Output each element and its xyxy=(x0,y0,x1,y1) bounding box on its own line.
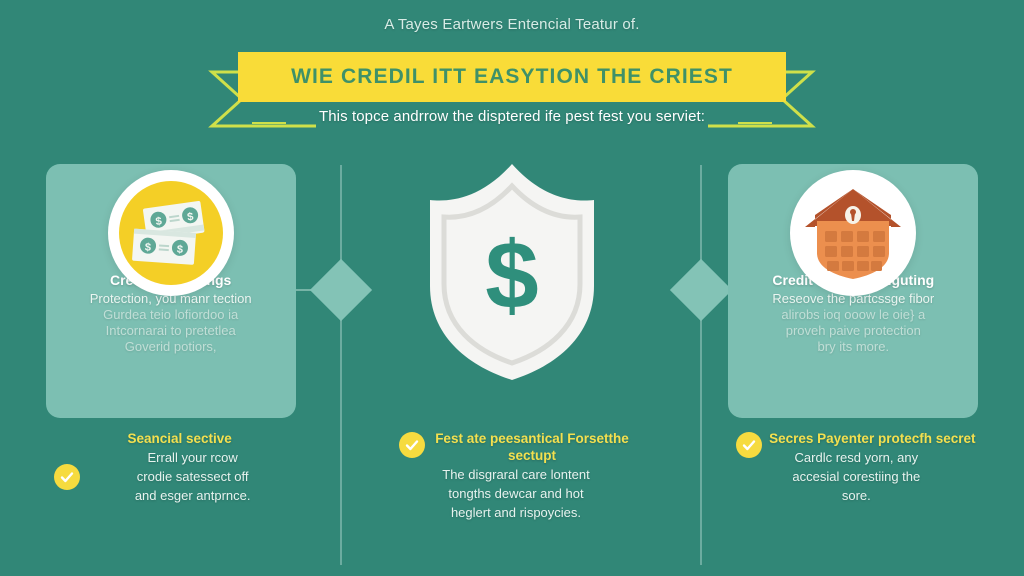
feature-column-3: Credit score parsiguting Reseove the par… xyxy=(683,164,1024,422)
feature-cards-row: $ $ $ xyxy=(0,164,1024,422)
key-point-3-line-2: accesial corestiing the xyxy=(722,468,984,485)
key-point-3[interactable]: Secres Payenter protecfh secret Cardlc r… xyxy=(683,430,1024,570)
feature-card-3-line-3: proveh paive protection xyxy=(740,323,966,339)
check-circle-icon xyxy=(399,432,425,458)
header-subtitle: This topce andrrow the disptered ife pes… xyxy=(0,108,1024,125)
key-points-row: Seancial sective Errall your rcow crodie… xyxy=(0,430,1024,570)
svg-text:$: $ xyxy=(176,244,183,256)
infographic-canvas: A Tayes Eartwers Entencial Teatur of. WI… xyxy=(0,0,1024,576)
key-point-3-line-1: Cardlc resd yorn, any xyxy=(722,449,984,466)
svg-text:$: $ xyxy=(485,222,538,329)
svg-text:$: $ xyxy=(144,241,151,253)
feature-card-2[interactable]: $ xyxy=(387,164,637,418)
feature-column-2: $ xyxy=(341,164,682,422)
key-point-1[interactable]: Seancial sective Errall your rcow crodie… xyxy=(0,430,341,570)
feature-card-3-line-4: bry its more. xyxy=(740,339,966,355)
key-point-2-line-3: heglert and rispoycies. xyxy=(381,504,643,521)
feature-card-1-line-2: Gurdea teio lofiordoo ia xyxy=(58,307,284,323)
header-eyebrow: A Tayes Eartwers Entencial Teatur of. xyxy=(0,16,1024,33)
key-point-1-line-3: and esger antprnce. xyxy=(40,487,302,504)
key-point-2-line-2: tongths dewcar and hot xyxy=(381,485,643,502)
bank-building-lock-icon xyxy=(801,181,905,285)
shield-dollar-icon: $ xyxy=(422,158,602,386)
feature-card-3[interactable]: Credit score parsiguting Reseove the par… xyxy=(728,164,978,418)
feature-card-3-line-2: alirobs ioq ooow le oie} a xyxy=(740,307,966,323)
key-point-1-heading: Seancial sective xyxy=(40,430,302,447)
key-point-2-line-1: The disgraral care lontent xyxy=(381,466,643,483)
check-circle-icon xyxy=(54,464,80,490)
key-point-3-line-3: sore. xyxy=(722,487,984,504)
feature-card-1[interactable]: $ $ $ xyxy=(46,164,296,418)
key-point-2[interactable]: Fest ate peesantical Forsetthe sectupt T… xyxy=(341,430,682,570)
medallion-1: $ $ $ xyxy=(108,170,234,296)
medallion-3 xyxy=(790,170,916,296)
cash-banknotes-icon: $ $ $ xyxy=(119,181,223,285)
key-point-1-line-1: Errall your rcow xyxy=(40,449,302,466)
feature-column-1: $ $ $ xyxy=(0,164,341,422)
page-title: WIE CREDIL ITT EASYTION THE CRIEST xyxy=(238,52,786,102)
feature-card-1-line-3: Intcornarai to pretetlea xyxy=(58,323,284,339)
feature-card-1-line-4: Goverid potiors, xyxy=(58,339,284,355)
